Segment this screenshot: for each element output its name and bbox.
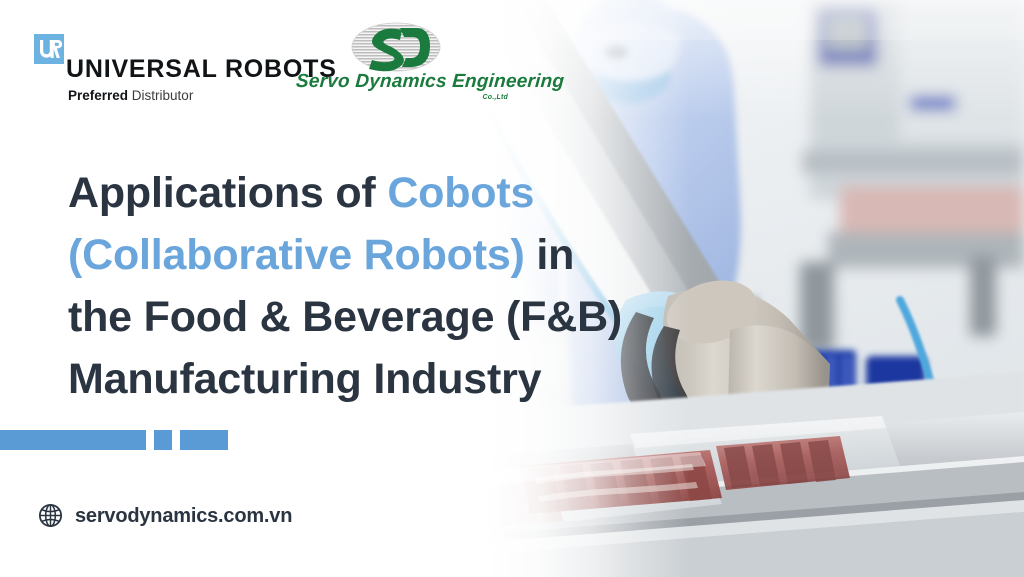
headline-line-3: the Food & Beverage (F&B) — [68, 286, 668, 348]
headline-line-1: Applications of Cobots — [68, 162, 668, 224]
headline-line-1-dark: Applications of — [68, 169, 387, 217]
logo-row: UNIVERSAL ROBOTS Preferred Distributor S… — [0, 0, 560, 120]
page-title: Applications of Cobots (Collaborative Ro… — [68, 162, 668, 410]
website-footer[interactable]: servodynamics.com.vn — [38, 503, 292, 528]
servo-dynamics-wordmark: Servo Dynamics Engineering — [295, 72, 516, 93]
decorative-bar-1 — [0, 430, 146, 450]
servo-dynamics-logo: Servo Dynamics Engineering Co.,Ltd — [296, 22, 516, 110]
distributor-label: Distributor — [128, 88, 193, 103]
ur-mark-icon — [34, 34, 64, 64]
globe-icon — [38, 503, 63, 528]
headline-line-4: Manufacturing Industry — [68, 348, 668, 410]
headline-line-1-accent: Cobots — [387, 169, 534, 217]
promotional-banner: UNIVERSAL ROBOTS Preferred Distributor S… — [0, 0, 1024, 577]
universal-robots-logo: UNIVERSAL ROBOTS Preferred Distributor — [34, 34, 299, 104]
headline-line-2: (Collaborative Robots) in — [68, 224, 668, 286]
website-url[interactable]: servodynamics.com.vn — [75, 506, 292, 526]
decorative-bar-3 — [180, 430, 228, 450]
headline-line-2-accent: (Collaborative Robots) — [68, 231, 525, 279]
servo-dynamics-suffix: Co.,Ltd — [482, 94, 508, 101]
headline-line-2-dark: in — [525, 231, 575, 279]
decorative-bar-2 — [154, 430, 172, 450]
preferred-distributor-label: Preferred Distributor — [68, 89, 193, 103]
sd-monogram-icon — [350, 22, 442, 72]
preferred-label: Preferred — [68, 88, 128, 103]
